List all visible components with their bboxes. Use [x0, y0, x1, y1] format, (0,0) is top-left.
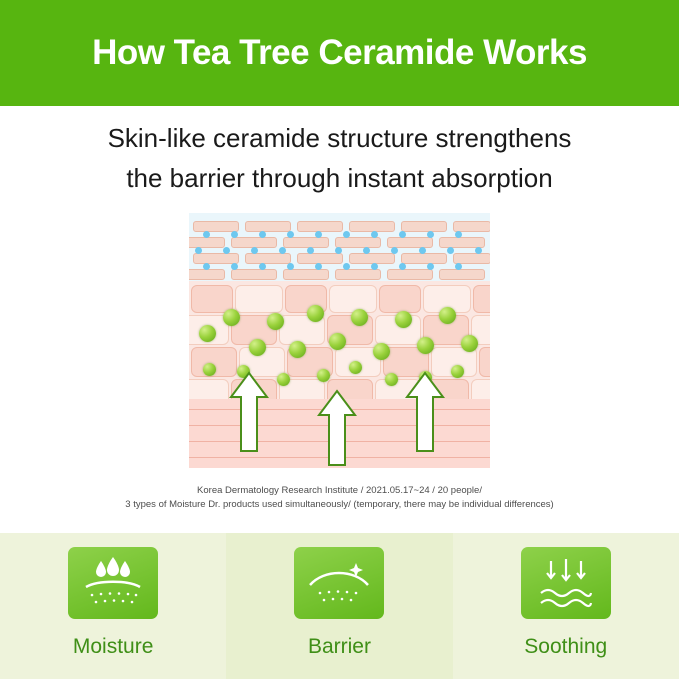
benefit-item-soothing: Soothing [453, 533, 679, 679]
subtitle: Skin-like ceramide structure strengthens… [0, 118, 679, 198]
absorption-arrow-icon [229, 371, 269, 453]
shield-curve-sparkle-icon [294, 547, 384, 619]
study-caption: Korea Dermatology Research Institute / 2… [0, 484, 679, 512]
benefit-label-moisture: Moisture [0, 635, 226, 659]
header-banner: How Tea Tree Ceramide Works [0, 0, 679, 106]
caption-line-2: 3 types of Moisture Dr. products used si… [0, 498, 679, 512]
skin-cross-section-diagram [189, 213, 490, 468]
benefit-label-soothing: Soothing [453, 635, 679, 659]
absorption-arrow-icon [405, 371, 445, 453]
benefit-label-barrier: Barrier [226, 635, 452, 659]
water-drops-icon [68, 547, 158, 619]
caption-line-1: Korea Dermatology Research Institute / 2… [0, 484, 679, 498]
subtitle-line-2: the barrier through instant absorption [0, 158, 679, 198]
page-title: How Tea Tree Ceramide Works [92, 33, 587, 73]
benefits-row: Moisture Barrier [0, 533, 679, 679]
subtitle-line-1: Skin-like ceramide structure strengthens [108, 123, 572, 153]
absorption-arrow-icon [317, 389, 357, 467]
infographic-page: How Tea Tree Ceramide Works Skin-like ce… [0, 0, 679, 679]
down-arrows-waves-icon [521, 547, 611, 619]
benefit-item-moisture: Moisture [0, 533, 226, 679]
benefit-item-barrier: Barrier [226, 533, 452, 679]
